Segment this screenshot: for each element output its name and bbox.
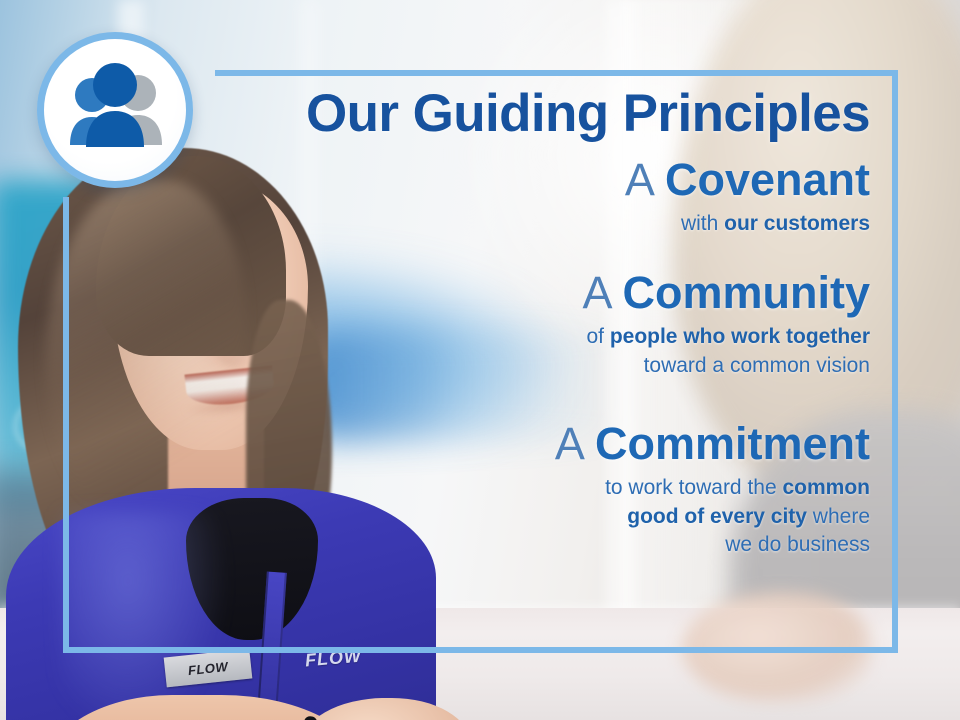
plain-text: to work toward the [605, 476, 782, 499]
principle-subtext-1: with our customers [120, 210, 870, 238]
principle-headline-1: A Covenant [120, 156, 870, 205]
principle-subtext-line: to work toward the common [120, 474, 870, 502]
principle-block-1: A Covenant with our customers [120, 156, 870, 239]
guiding-principles-graphic: FLOW FLOW Our Guiding Principles [0, 0, 960, 720]
principle-block-3: A Commitment to work toward the commongo… [120, 420, 870, 560]
plain-text: where [807, 505, 870, 528]
principle-keyword-2: Community [623, 267, 871, 318]
name-badge-label: FLOW [187, 658, 229, 677]
page-title: Our Guiding Principles [120, 86, 870, 142]
plain-text: with [681, 212, 724, 235]
principle-headline-2: A Community [120, 269, 870, 318]
emphasis-text: good of every city [627, 505, 807, 528]
principle-lead-1: A [625, 154, 653, 205]
emphasis-text: our customers [724, 212, 870, 235]
principle-subtext-line: good of every city where [120, 503, 870, 531]
principle-lead-2: A [582, 267, 610, 318]
principle-subtext-3: to work toward the commongood of every c… [120, 474, 870, 559]
principle-subtext-line: toward a common vision [120, 352, 870, 380]
customer-hand [682, 592, 872, 702]
plain-text: we do business [725, 533, 870, 556]
principle-keyword-1: Covenant [665, 154, 870, 205]
principle-subtext-line: we do business [120, 531, 870, 559]
principle-headline-3: A Commitment [120, 420, 870, 469]
principle-block-2: A Community of people who work togethert… [120, 269, 870, 380]
plain-text: toward a common vision [644, 354, 870, 377]
plain-text: of [586, 325, 609, 348]
principle-subtext-line: of people who work together [120, 323, 870, 351]
emphasis-text: common [782, 476, 870, 499]
copy-block: Our Guiding Principles A Covenant with o… [120, 86, 870, 559]
emphasis-text: people who work together [610, 325, 870, 348]
principle-lead-3: A [555, 418, 583, 469]
principle-subtext-line: with our customers [120, 210, 870, 238]
principle-keyword-3: Commitment [595, 418, 870, 469]
principle-subtext-2: of people who work togethertoward a comm… [120, 323, 870, 380]
